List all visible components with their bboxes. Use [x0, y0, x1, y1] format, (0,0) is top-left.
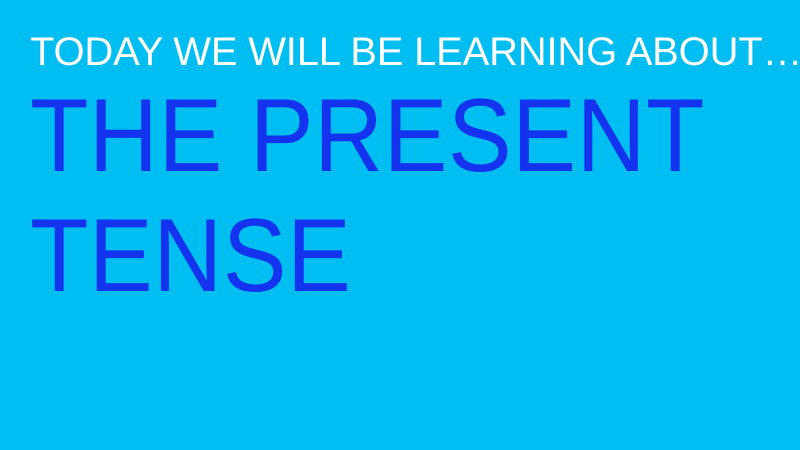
slide-content-area: TODAY WE WILL BE LEARNING ABOUT… THE PRE… — [0, 0, 800, 450]
slide-subtitle: TODAY WE WILL BE LEARNING ABOUT… — [30, 30, 775, 74]
presentation-slide: TODAY WE WILL BE LEARNING ABOUT… THE PRE… — [0, 0, 800, 450]
slide-title: THE PRESENT TENSE — [30, 76, 711, 316]
